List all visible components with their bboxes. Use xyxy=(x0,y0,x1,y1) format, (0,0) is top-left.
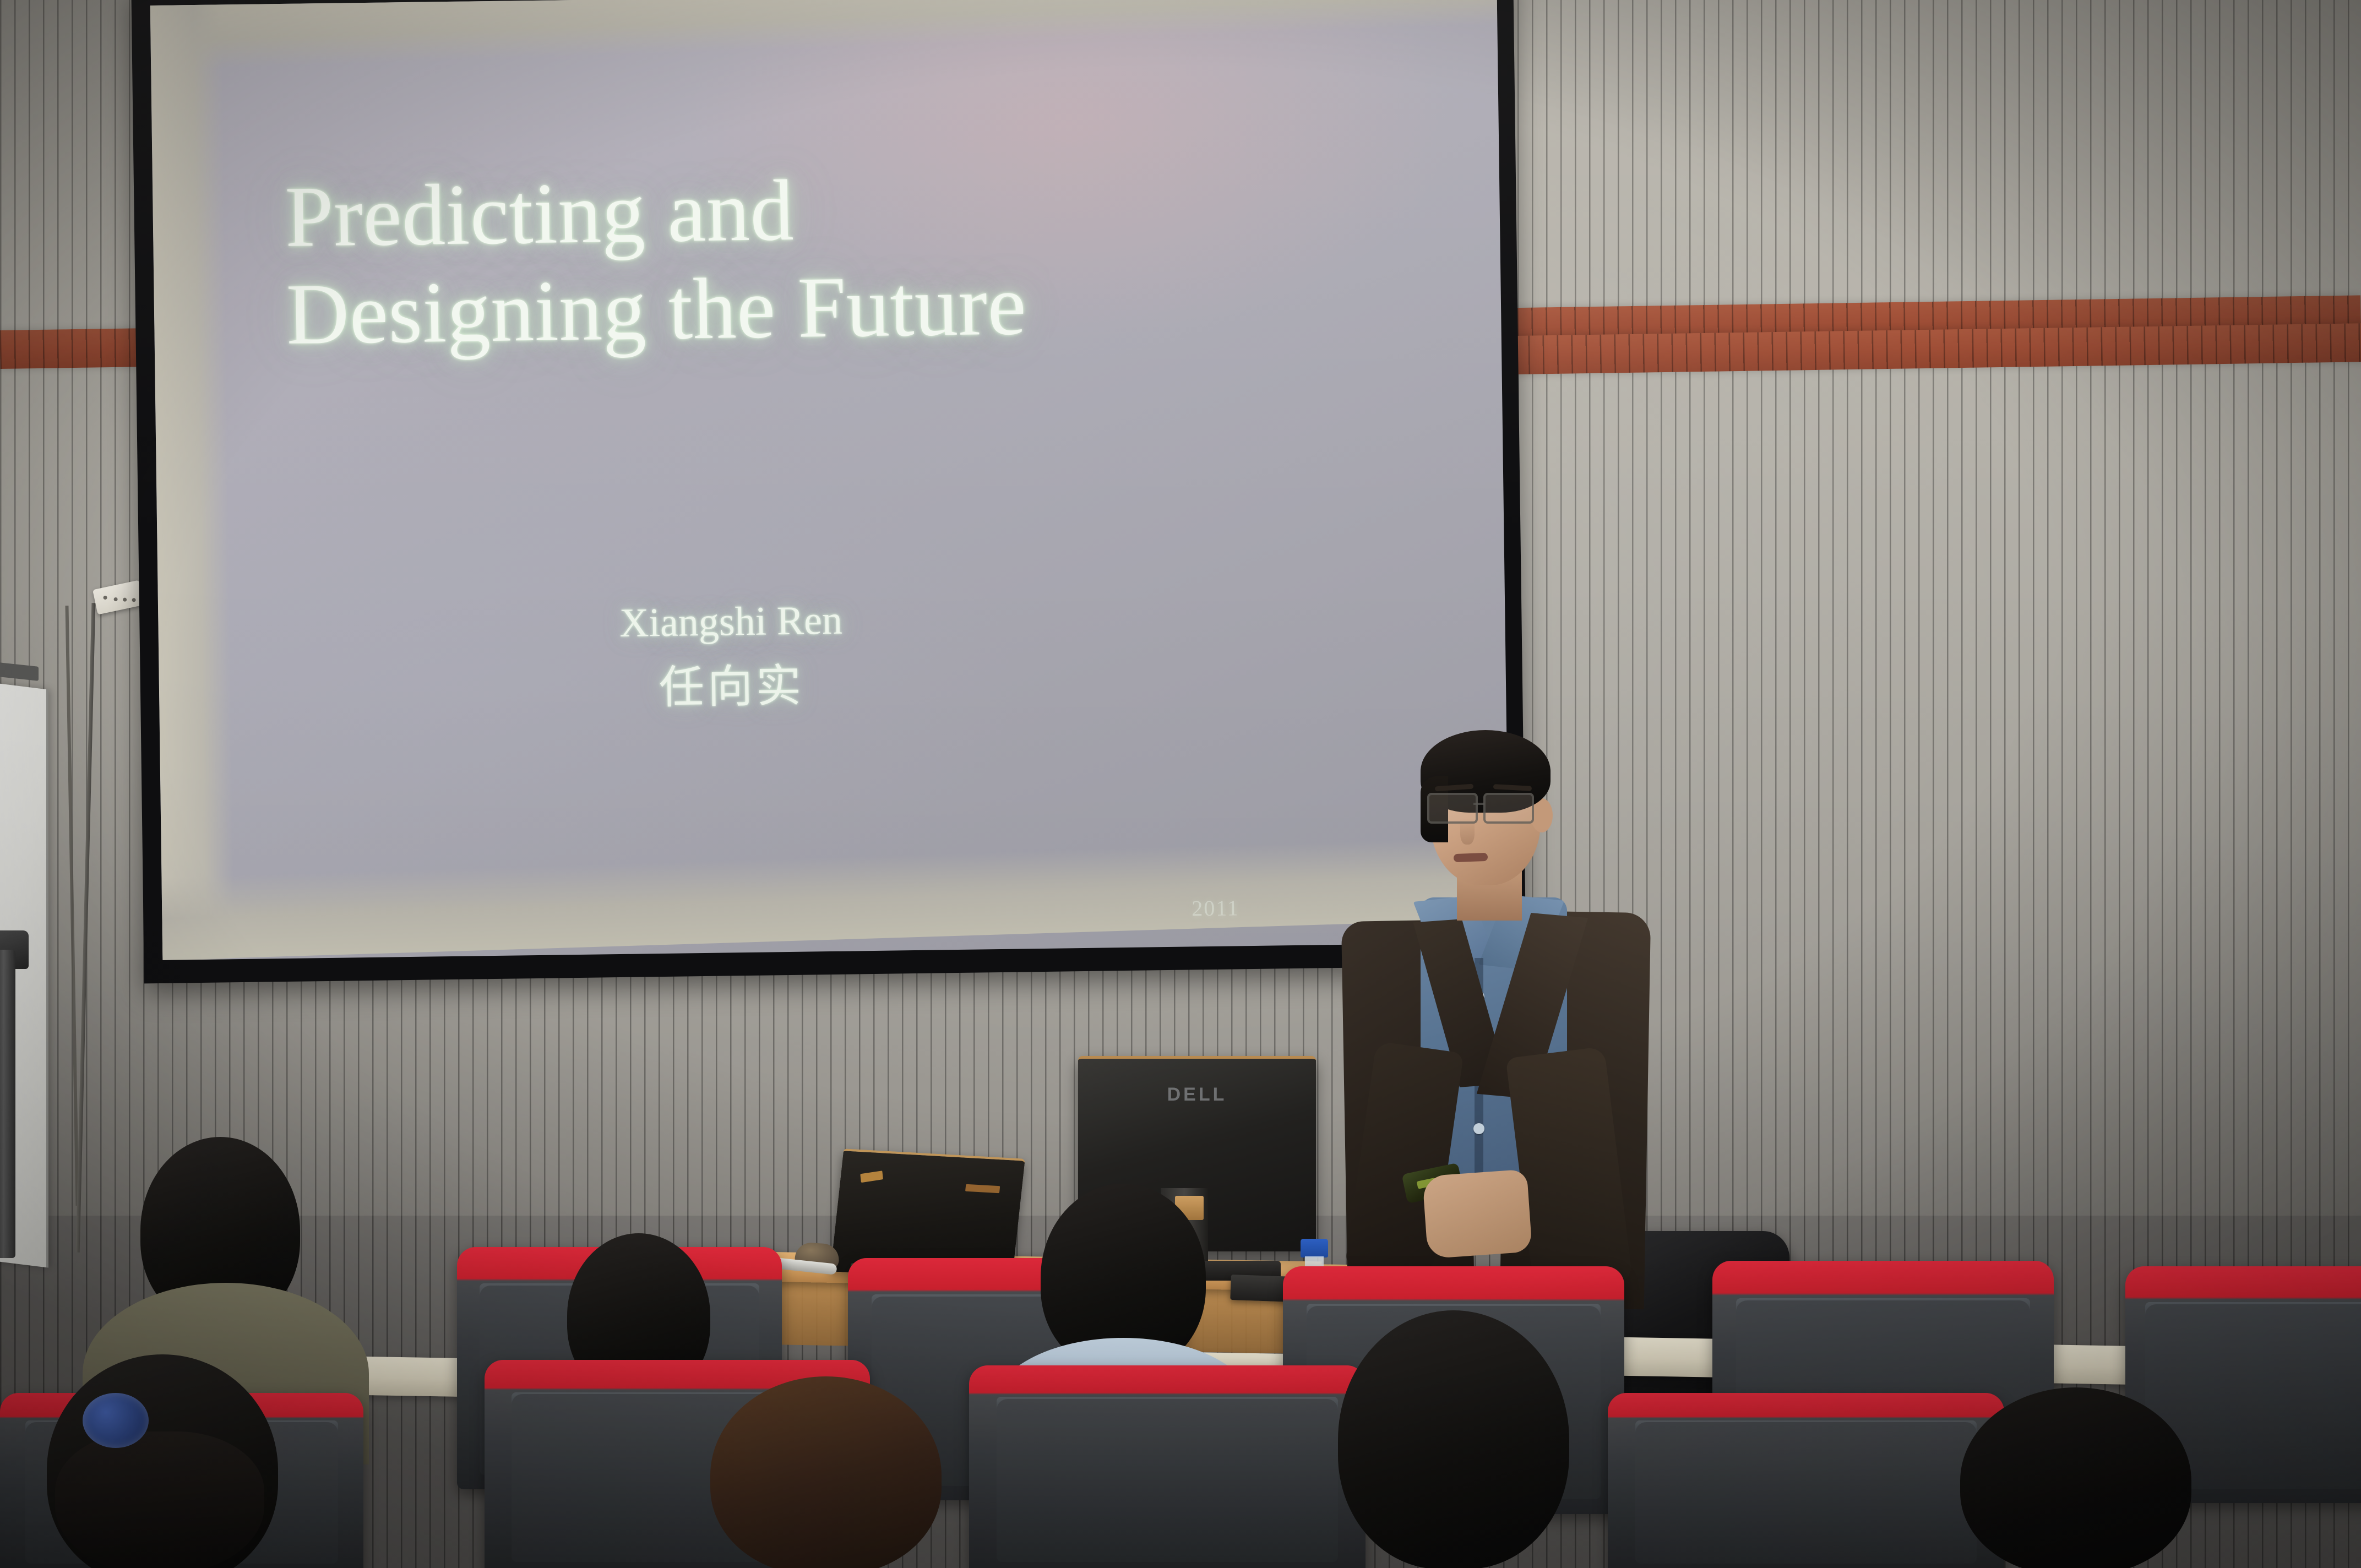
lecture-hall-photo: Predicting and Designing the Future Xian… xyxy=(0,0,2361,1568)
audience-seat[interactable] xyxy=(969,1365,1366,1568)
presenter[interactable] xyxy=(1338,716,1646,1321)
seat-back-panel xyxy=(997,1399,1337,1562)
eyeglasses-icon xyxy=(1426,793,1543,820)
eyeglass-bridge xyxy=(1473,803,1484,805)
audience-head xyxy=(1960,1387,2191,1568)
slide-author-chinese: 任向实 xyxy=(291,649,1172,726)
audience-head xyxy=(710,1376,942,1568)
presenter-shirt-button xyxy=(1473,1123,1484,1134)
monitor-brand-logo: DELL xyxy=(1167,1084,1227,1106)
projection-surface: Predicting and Designing the Future Xian… xyxy=(150,0,1509,960)
presenter-mouth xyxy=(1454,853,1488,862)
presenter-hands xyxy=(1422,1169,1532,1259)
slide-footer-date: 2011 xyxy=(1192,895,1239,921)
laptop-logo-icon xyxy=(860,1170,883,1183)
seat-back-panel xyxy=(1635,1422,1976,1564)
screen-unlit-left-margin xyxy=(150,4,235,960)
slide-author-latin: Xiangshi Ren xyxy=(619,598,842,646)
eyeglass-lens-right xyxy=(1483,793,1534,824)
microphone-stand[interactable] xyxy=(0,950,15,1258)
slide-author-block: Xiangshi Ren 任向实 xyxy=(290,587,1173,726)
presenter-nose xyxy=(1460,818,1475,845)
bottle-cap xyxy=(1301,1239,1328,1257)
hair-clip-icon xyxy=(83,1393,149,1448)
audience-seat[interactable] xyxy=(1608,1393,2004,1568)
screen-unlit-top-margin xyxy=(150,0,1499,70)
audience-ponytail xyxy=(55,1431,264,1568)
laptop-badge-icon xyxy=(965,1184,1000,1193)
audience-head xyxy=(1338,1310,1569,1568)
screen-unlit-bottom-margin xyxy=(160,836,1509,960)
projection-screen: Predicting and Designing the Future Xian… xyxy=(131,0,1526,983)
slide-title: Predicting and Designing the Future xyxy=(285,155,1333,364)
